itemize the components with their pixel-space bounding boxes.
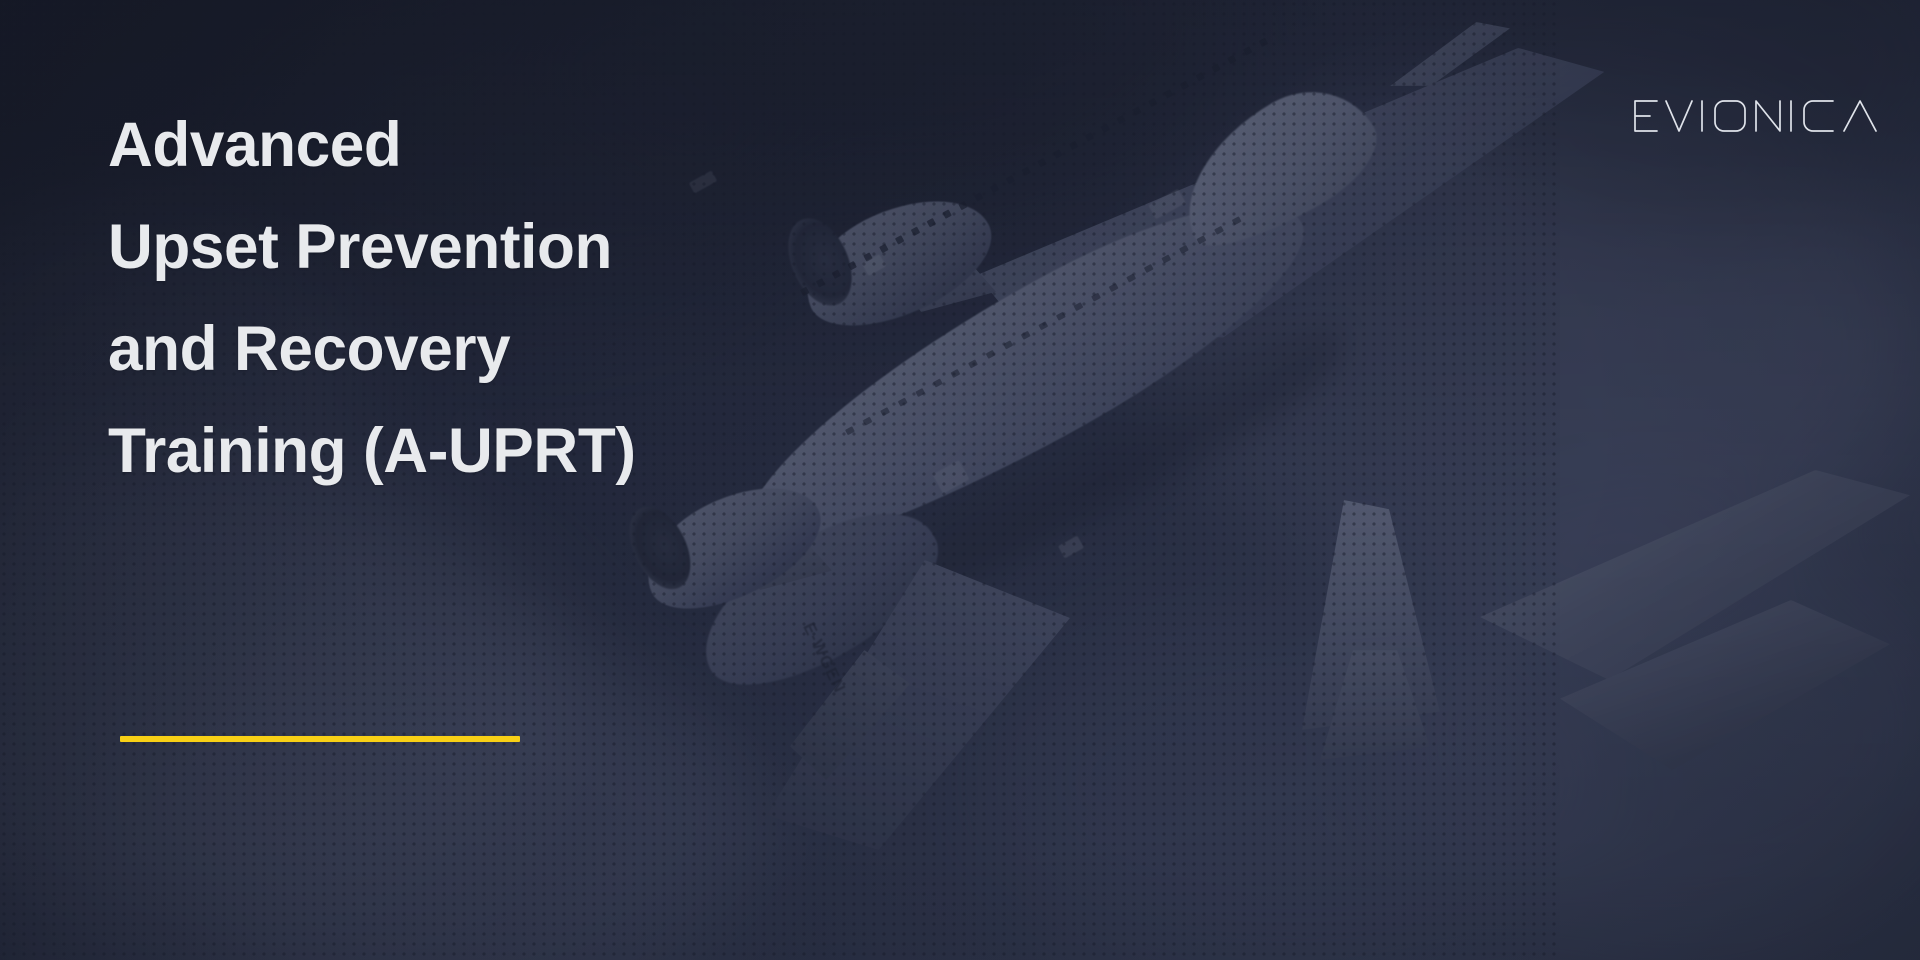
- banner-content: Advanced Upset Prevention and Recovery T…: [0, 0, 1920, 960]
- evionica-logo-wordmark: [1630, 96, 1880, 136]
- page-title: Advanced Upset Prevention and Recovery T…: [108, 94, 995, 502]
- yellow-accent-bar: [120, 736, 520, 742]
- evionica-logo[interactable]: [1630, 96, 1880, 136]
- course-hero-banner: E-WGEN: [0, 0, 1920, 960]
- hero-title-block: Advanced Upset Prevention and Recovery T…: [108, 94, 1008, 502]
